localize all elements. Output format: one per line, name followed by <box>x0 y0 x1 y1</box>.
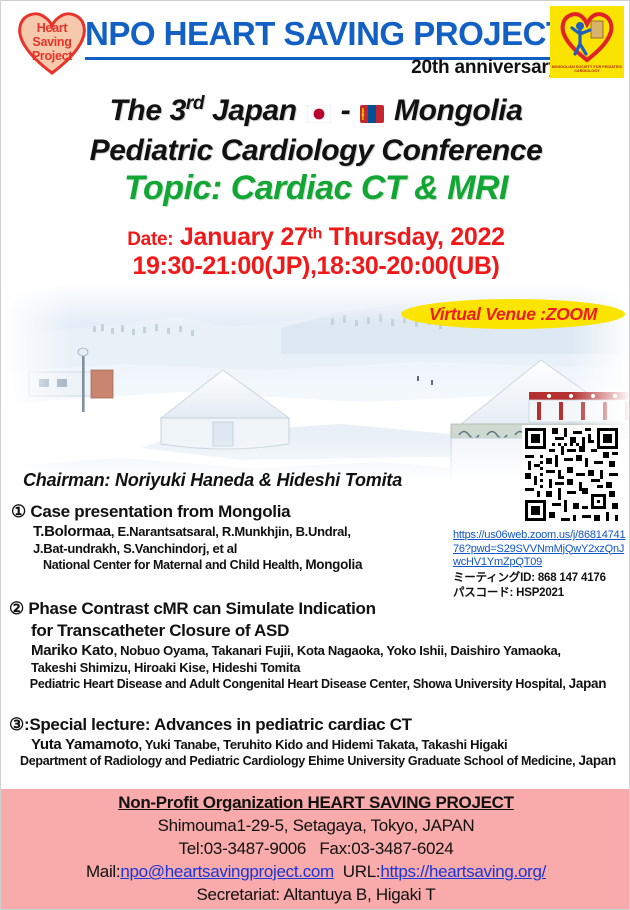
anniversary-label: 20th anniversary <box>331 57 559 79</box>
program-1-coauthors: , E.Narantsatsaral, R.Munkhjin, B.Undral… <box>111 524 351 539</box>
program-3-affiliation: Department of Radiology and Pediatric Ca… <box>9 753 627 769</box>
conference-main-title: The 3rd Japan - Mongolia Pediatric Cardi… <box>1 85 630 169</box>
program-1-presenter: T.Bolormaa <box>33 523 111 540</box>
main-title-line1-a: The 3 <box>110 94 186 127</box>
hsp-logo-line3: Project <box>15 49 89 63</box>
footer-mail-label: Mail: <box>86 862 120 881</box>
program-1-country: Mongolia <box>305 557 362 572</box>
program-3-presenter: Yuta Yamamoto <box>31 736 139 753</box>
conference-time-line: 19:30-21:00(JP),18:30-20:00(UB) <box>1 252 630 281</box>
program-3-country: Japan <box>578 753 616 768</box>
footer-address: Shimouma1-29-5, Setagaya, Tokyo, JAPAN <box>1 816 630 836</box>
poster-footer: Non-Profit Organization HEART SAVING PRO… <box>1 789 630 910</box>
program-item-1: ① Case presentation from Mongolia T.Bolo… <box>11 501 451 573</box>
conference-topic: Topic: Cardiac CT & MRI <box>1 169 630 208</box>
main-title-ordinal: rd <box>186 93 204 114</box>
program-3-authors-line1: Yuta Yamamoto, Yuki Tanabe, Teruhito Kid… <box>31 736 627 753</box>
zoom-qr-code[interactable] <box>522 425 621 524</box>
zoom-meeting-url[interactable]: https://us06web.zoom.us/j/8681474176?pwd… <box>453 529 629 570</box>
program-1-authors-line1: T.Bolormaa, E.Narantsatsaral, R.Munkhjin… <box>33 523 451 540</box>
japan-flag-icon <box>307 95 331 132</box>
program-3-title: ③:Special lecture: Advances in pediatric… <box>9 714 627 736</box>
program-1-affiliation-text: National Center for Maternal and Child H… <box>43 558 305 572</box>
main-title-line1-d: Mongolia <box>386 94 522 127</box>
main-title-line2: Pediatric Cardiology Conference <box>1 132 630 169</box>
zoom-meeting-info: https://us06web.zoom.us/j/8681474176?pwd… <box>453 529 629 600</box>
program-2-coauthors: , Nobuo Oyama, Takanari Fujii, Kota Naga… <box>114 643 561 658</box>
program-3-number: ③ <box>9 715 24 734</box>
poster-header: Heart Saving Project NPO HEART SAVING PR… <box>1 1 630 83</box>
conference-poster: Heart Saving Project NPO HEART SAVING PR… <box>0 0 630 910</box>
chairman-line: Chairman: Noriyuki Haneda & Hideshi Tomi… <box>23 470 443 491</box>
footer-secretariat: Secretariat: Altantuya B, Higaki T <box>1 885 630 905</box>
program-2-number: ② <box>9 599 24 618</box>
mongolia-flag-icon <box>360 95 384 132</box>
program-2-affiliation: Pediatric Heart Disease and Adult Congen… <box>9 676 627 692</box>
program-2-affiliation-text: Pediatric Heart Disease and Adult Congen… <box>30 677 569 691</box>
footer-fax: Fax:03-3487-6024 <box>319 839 453 858</box>
hsp-logo-line1: Heart <box>15 21 89 35</box>
program-2-presenter: Mariko Kato <box>31 642 114 659</box>
program-1-authors-line2: J.Bat-undrakh, S.Vanchindorj, et al <box>33 540 451 557</box>
footer-url-label: URL: <box>343 862 381 881</box>
zoom-meeting-id: ミーティングID: 868 147 4176 <box>453 571 629 585</box>
main-title-line1-c: - <box>333 94 358 127</box>
hsp-logo-line2: Saving <box>15 35 89 49</box>
program-1-title-text: Case presentation from Mongolia <box>30 502 290 521</box>
mongolian-society-logo: MONGOLIAN SOCIETY FOR PEDIATRIC CARDIOLO… <box>550 6 624 78</box>
main-title-line1: The 3rd Japan - Mongolia <box>1 85 630 132</box>
virtual-venue-badge: Virtual Venue :ZOOM <box>401 299 625 329</box>
footer-url-link[interactable]: https://heartsaving.org/ <box>380 862 546 881</box>
program-1-affiliation: National Center for Maternal and Child H… <box>43 557 451 573</box>
heart-saving-project-logo: Heart Saving Project <box>15 7 89 77</box>
footer-contact: Mail:npo@heartsavingproject.com URL:http… <box>1 862 630 882</box>
npo-title: NPO HEART SAVING PROJECT <box>85 15 555 53</box>
hsp-logo-text: Heart Saving Project <box>15 21 89 63</box>
footer-tel: Tel:03-3487-9006 <box>179 839 307 858</box>
main-title-line1-b: Japan <box>204 94 305 127</box>
program-2-title-text-1: Phase Contrast cMR can Simulate Indicati… <box>28 599 375 618</box>
footer-org-title: Non-Profit Organization HEART SAVING PRO… <box>1 793 630 813</box>
program-item-2: ② Phase Contrast cMR can Simulate Indica… <box>9 598 627 692</box>
date-ordinal: th <box>308 226 323 243</box>
program-3-title-text: :Special lecture: Advances in pediatric … <box>24 715 412 734</box>
program-2-authors-line1: Mariko Kato, Nobuo Oyama, Takanari Fujii… <box>31 642 627 659</box>
program-item-3: ③:Special lecture: Advances in pediatric… <box>9 714 627 769</box>
program-2-country: Japan <box>569 676 607 691</box>
program-1-number: ① <box>11 502 26 521</box>
program-3-affiliation-text: Department of Radiology and Pediatric Ca… <box>20 754 578 768</box>
program-2-title-line1: ② Phase Contrast cMR can Simulate Indica… <box>9 598 627 620</box>
date-value-a: January 27 <box>173 223 307 251</box>
program-3-coauthors: , Yuki Tanabe, Teruhito Kido and Hidemi … <box>139 737 508 752</box>
mongolian-society-logo-caption: MONGOLIAN SOCIETY FOR PEDIATRIC CARDIOLO… <box>550 65 624 74</box>
footer-mail-link[interactable]: npo@heartsavingproject.com <box>120 862 334 881</box>
program-2-title-line2: for Transcatheter Closure of ASD <box>31 620 627 642</box>
conference-date-line: Date: January 27th Thursday, 2022 <box>1 223 630 252</box>
footer-tel-fax: Tel:03-3487-9006 Fax:03-3487-6024 <box>1 839 630 859</box>
date-value-b: Thursday, 2022 <box>322 223 505 251</box>
program-1-title: ① Case presentation from Mongolia <box>11 501 451 523</box>
program-2-authors-line2: Takeshi Shimizu, Hiroaki Kise, Hideshi T… <box>31 659 627 676</box>
date-label: Date: <box>127 229 173 250</box>
